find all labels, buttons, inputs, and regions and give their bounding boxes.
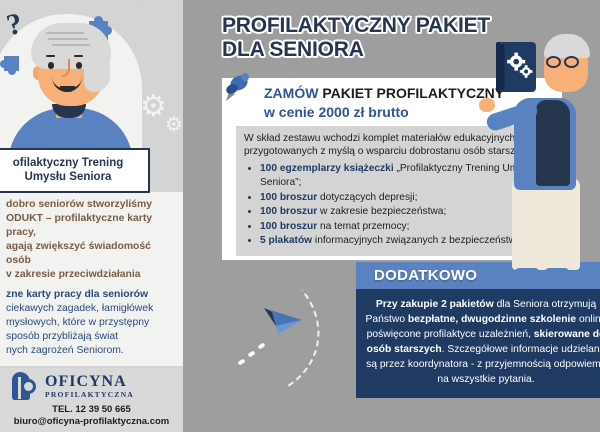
- item-bold: 100 egzemplarzy książeczki: [260, 163, 394, 174]
- poster-canvas: ? ⚙ ⚙ NOWY PRODUKT: [0, 0, 600, 432]
- item-rest: w zakresie bezpieczeństwa;: [317, 206, 446, 217]
- gear-icon: ⚙: [165, 115, 183, 135]
- item-rest: na temat przemocy;: [317, 221, 409, 232]
- left-paragraph-navy: zne karty pracy dla seniorów ciekawych z…: [0, 281, 183, 366]
- left-column: ? ⚙ ⚙ NOWY PRODUKT: [0, 0, 183, 432]
- left-paragraph-body: ciekawych zagadek, łamigłówek mysłowych,…: [6, 303, 153, 356]
- figure-shoe: [544, 268, 570, 279]
- figure-shoe: [514, 268, 540, 279]
- offer-heading-rest: PAKIET PROFILAKTYCZNY: [318, 85, 504, 101]
- logo-company-subtitle: PROFILAKTYCZNA: [45, 391, 134, 399]
- senior-figure-hair-side: [84, 44, 110, 92]
- senior-figure-eye: [48, 62, 54, 69]
- hair-strand: [48, 38, 88, 40]
- bonus-text-1: Przy zakupie 2 pakietów: [376, 299, 494, 310]
- figure-hand: [479, 98, 495, 112]
- logo-company-name: OFICYNA: [45, 374, 134, 390]
- item-bold: 100 broszur: [260, 206, 317, 217]
- hair-strand: [52, 44, 90, 46]
- left-paragraph-heading: zne karty pracy dla seniorów: [6, 289, 148, 300]
- offer-heading-accent: ZAMÓW: [264, 85, 318, 101]
- hair-strand: [46, 32, 84, 34]
- contact-email[interactable]: biuro@oficyna-profilaktyczna.com: [0, 416, 183, 427]
- senior-figure-eye: [76, 62, 82, 69]
- item-bold: 100 broszur: [260, 221, 317, 232]
- item-rest: dotyczących depresji;: [317, 192, 417, 203]
- figure-glasses-right: [564, 56, 579, 68]
- product-name-label: ofilaktyczny Trening Umysłu Seniora: [0, 148, 150, 193]
- bonus-text-3: bezpłatne, dwugodzinne szkolenie: [408, 314, 576, 325]
- figure-glasses-left: [546, 56, 561, 68]
- figure-skirt: [512, 178, 580, 270]
- product-label-line-2: Umysłu Seniora: [0, 170, 142, 184]
- item-bold: 5 plakatów: [260, 235, 312, 246]
- paper-plane-icon: [262, 296, 308, 336]
- senior-figure-eyebrow: [46, 55, 55, 57]
- question-mark-icon: ?: [4, 7, 26, 43]
- bonus-body: Przy zakupie 2 pakietów dla Seniora otrz…: [356, 289, 600, 398]
- puzzle-piece-icon: [4, 56, 19, 71]
- senior-figure-eyebrow: [74, 55, 83, 57]
- figure-hair: [544, 34, 590, 58]
- logo-row: OFICYNA PROFILAKTYCZNA: [0, 372, 183, 400]
- book-with-gears-icon: [496, 42, 536, 92]
- oficyna-logo-icon: [12, 372, 38, 400]
- logo-text: OFICYNA PROFILAKTYCZNA: [45, 374, 134, 399]
- item-bold: 100 broszur: [260, 192, 317, 203]
- pushpin-icon: [226, 72, 252, 102]
- figure-coat-inner: [536, 100, 570, 186]
- logo-block: OFICYNA PROFILAKTYCZNA TEL. 12 39 50 665…: [0, 368, 183, 432]
- page-title-line-1: PROFILAKTYCZNY PAKIET: [222, 14, 552, 38]
- contact-phone[interactable]: TEL. 12 39 50 665: [0, 404, 183, 415]
- product-label-line-1: ofilaktyczny Trening: [0, 156, 142, 170]
- gear-icon: ⚙: [140, 92, 167, 122]
